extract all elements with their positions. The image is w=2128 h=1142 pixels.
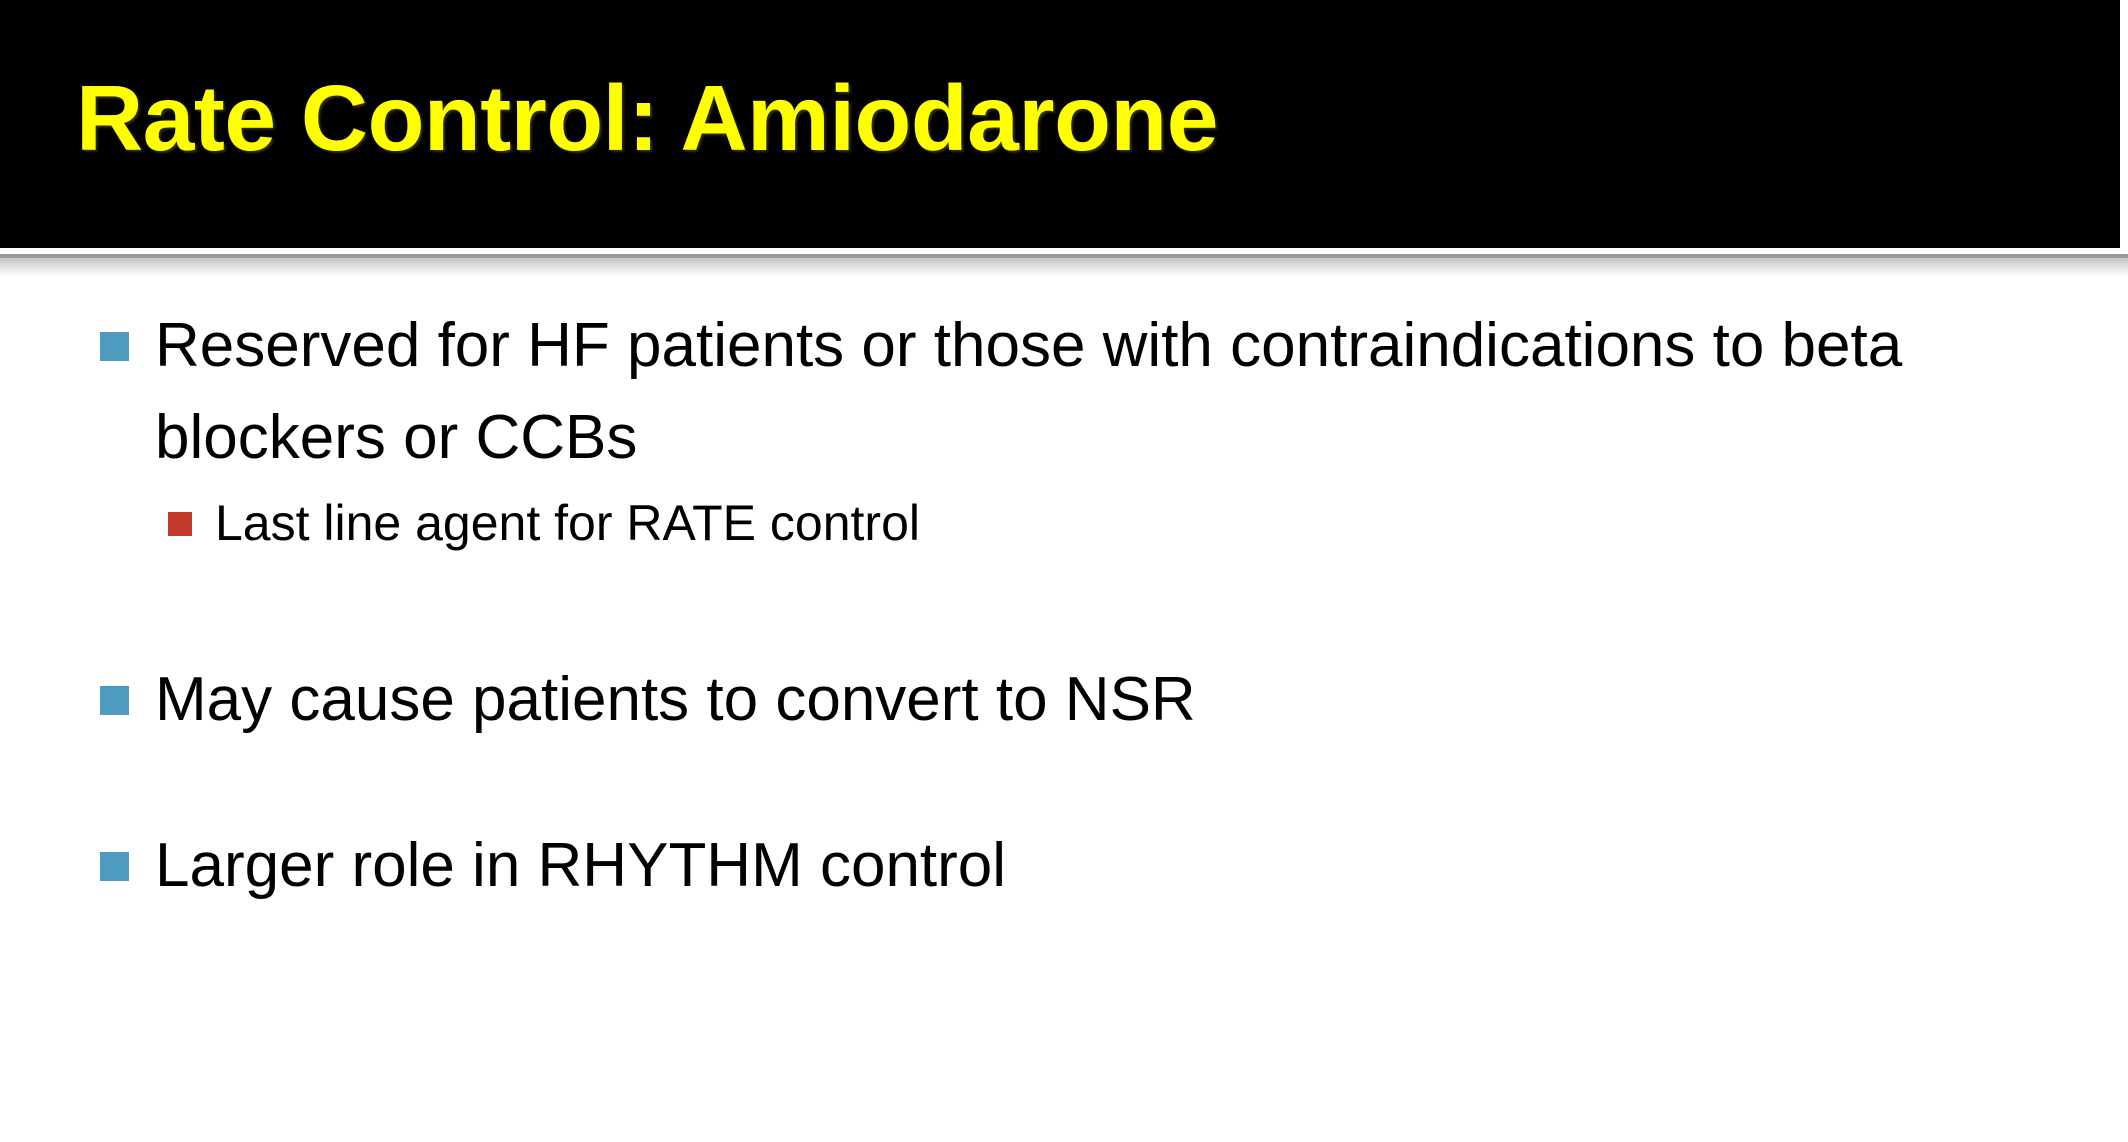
header-divider	[0, 248, 2128, 284]
square-bullet-red-icon	[168, 512, 192, 536]
bullet-item-2: Last line agent for RATE control	[0, 484, 2128, 562]
bullet-spacer-2	[0, 746, 2128, 820]
divider-shadow	[0, 258, 2128, 276]
bullet-item-4: Larger role in RHYTHM control	[0, 820, 2128, 912]
content-body: Reserved for HF patients or those with c…	[0, 300, 2128, 1142]
bullet-item-1: Reserved for HF patients or those with c…	[0, 300, 2128, 484]
square-bullet-teal-icon	[100, 686, 129, 715]
square-bullet-teal-icon	[100, 332, 129, 361]
page-title: Rate Control: Amiodarone	[76, 66, 1976, 176]
bullet-item-3: May cause patients to convert to NSR	[0, 654, 2128, 746]
bullet-spacer-1	[0, 562, 2128, 654]
bullet-item-4-label: Larger role in RHYTHM control	[155, 820, 2128, 912]
slide: Rate Control: Amiodarone Reserved for HF…	[0, 0, 2128, 1142]
bullet-item-3-label: May cause patients to convert to NSR	[155, 654, 2128, 746]
square-bullet-teal-icon	[100, 852, 129, 881]
bullet-item-1-label: Reserved for HF patients or those with c…	[155, 300, 2128, 484]
bullet-item-2-label: Last line agent for RATE control	[215, 484, 2128, 562]
